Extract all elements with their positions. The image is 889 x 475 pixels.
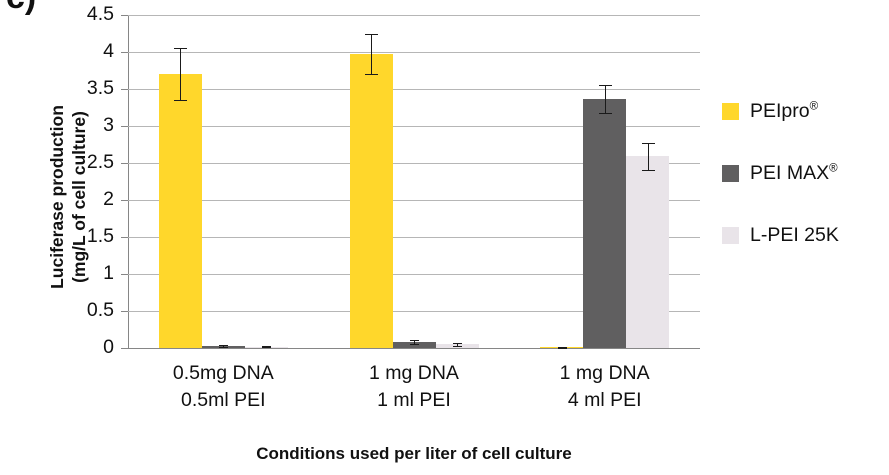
error-bar-cap xyxy=(365,34,378,35)
legend-swatch xyxy=(722,227,739,244)
y-axis-tick xyxy=(121,311,128,312)
error-bar-cap xyxy=(174,48,187,49)
panel-letter: c) xyxy=(6,0,36,14)
error-bar-cap xyxy=(365,74,378,75)
y-axis-title: Luciferase production (mg/L of cell cult… xyxy=(46,37,90,357)
chart-figure: c) Luciferase production (mg/L of cell c… xyxy=(0,0,889,475)
x-axis-category-label: 1 mg DNA 4 ml PEI xyxy=(509,360,700,414)
error-bar-cap xyxy=(410,340,419,341)
bar xyxy=(626,156,669,348)
legend-item[interactable]: PEI MAX® xyxy=(722,162,838,184)
bar xyxy=(350,54,393,348)
error-bar-cap xyxy=(410,344,419,345)
legend-label: L-PEI 25K xyxy=(750,224,839,247)
y-axis-tick xyxy=(121,89,128,90)
error-bar xyxy=(605,85,606,113)
x-axis-category-labels: 0.5mg DNA 0.5ml PEI1 mg DNA 1 ml PEI1 mg… xyxy=(128,360,700,430)
y-axis-tick xyxy=(121,348,128,349)
y-axis-tick xyxy=(121,200,128,201)
legend-item[interactable]: L-PEI 25K xyxy=(722,224,839,246)
error-bar xyxy=(371,34,372,74)
x-axis-category-label: 1 mg DNA 1 ml PEI xyxy=(319,360,510,414)
x-axis-title: Conditions used per liter of cell cultur… xyxy=(128,444,700,464)
y-axis-tick xyxy=(121,126,128,127)
legend-label: PEI MAX® xyxy=(750,162,838,185)
error-bar-cap xyxy=(174,100,187,101)
legend-swatch xyxy=(722,103,739,120)
error-bar-cap xyxy=(558,348,567,349)
error-bar-cap xyxy=(453,346,462,347)
error-bar-cap xyxy=(453,343,462,344)
y-axis-tick xyxy=(121,274,128,275)
error-bar xyxy=(648,143,649,170)
x-axis-line xyxy=(128,348,700,349)
error-bar-cap xyxy=(599,85,612,86)
bar-series-container xyxy=(128,15,700,348)
plot-area xyxy=(128,15,700,348)
legend-item[interactable]: PEIpro® xyxy=(722,100,818,122)
y-axis-tick xyxy=(121,237,128,238)
error-bar xyxy=(180,48,181,100)
y-axis-tick xyxy=(121,52,128,53)
y-axis-tick xyxy=(121,15,128,16)
error-bar-cap xyxy=(642,170,655,171)
legend-swatch xyxy=(722,165,739,182)
bar xyxy=(583,99,626,348)
error-bar-cap xyxy=(219,347,228,348)
y-axis-tick xyxy=(121,163,128,164)
y-axis-tick-label: 4.5 xyxy=(54,5,114,25)
bar xyxy=(159,74,202,348)
error-bar-cap xyxy=(599,113,612,114)
legend-label: PEIpro® xyxy=(750,100,818,123)
x-axis-category-label: 0.5mg DNA 0.5ml PEI xyxy=(128,360,319,414)
error-bar-cap xyxy=(642,143,655,144)
error-bar-cap xyxy=(262,347,271,348)
